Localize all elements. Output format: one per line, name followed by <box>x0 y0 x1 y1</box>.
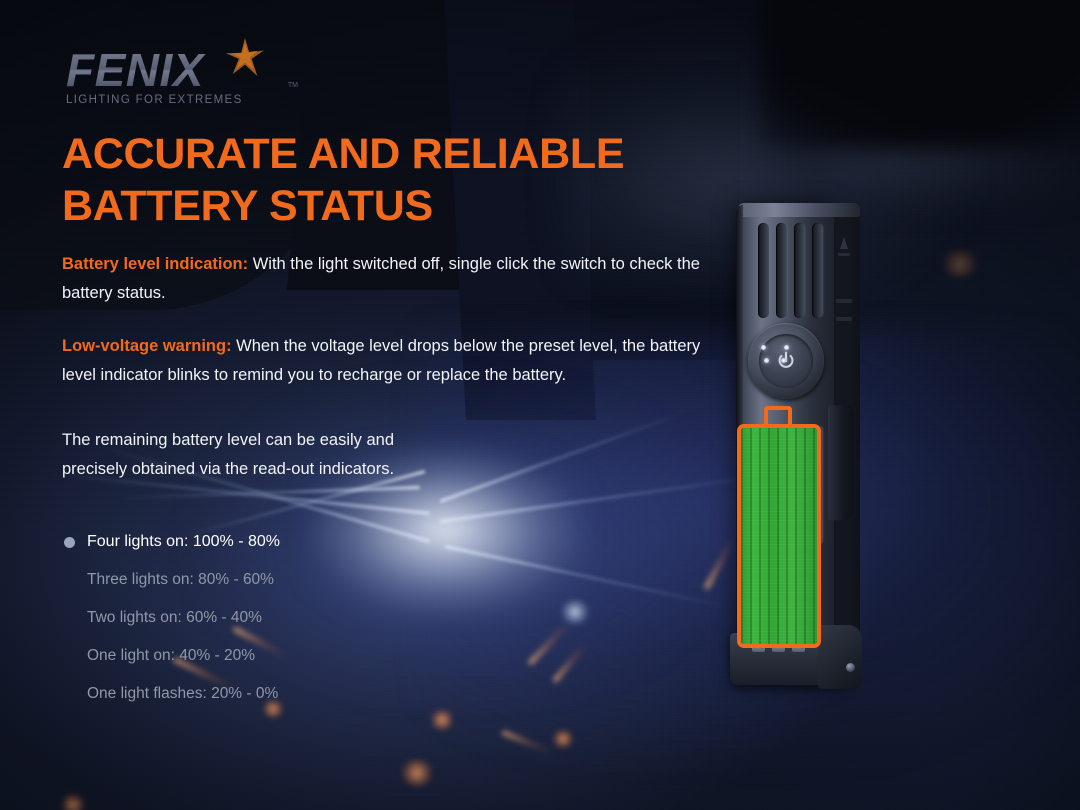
flashlight-groove <box>776 223 787 318</box>
star-icon <box>226 38 264 76</box>
list-item: Four lights on: 100% - 80% <box>62 528 702 557</box>
led-indicator-4 <box>781 358 786 363</box>
spark-dot <box>400 760 434 786</box>
list-item-label: Three lights on: 80% - 60% <box>87 571 274 588</box>
list-item: Two lights on: 60% - 40% <box>62 604 702 633</box>
led-indicator-1 <box>761 345 766 350</box>
list-item: One light flashes: 20% - 0% <box>62 680 702 709</box>
paragraph-battery-level: Battery level indication: With the light… <box>62 250 702 308</box>
paragraph-low-voltage: Low-voltage warning: When the voltage le… <box>62 332 702 390</box>
list-item: One light on: 40% - 20% <box>62 642 702 671</box>
led-indicator-2 <box>784 345 789 350</box>
logo-trademark: TM <box>288 82 298 89</box>
spark-dot <box>60 795 86 810</box>
battery-fill <box>741 428 817 644</box>
page-title: ACCURATE AND RELIABLE BATTERY STATUS <box>62 128 702 232</box>
spark-dot <box>552 730 574 748</box>
flashlight-top-cap <box>738 203 860 217</box>
battery-outline <box>737 424 821 648</box>
flashlight-groove <box>758 223 769 318</box>
flashlight-groove <box>812 223 823 318</box>
led-indicator-3 <box>764 358 769 363</box>
background-dark-corner <box>760 0 1080 150</box>
paragraph-lead: Battery level indication: <box>62 255 248 273</box>
flashlight-groove <box>794 223 805 318</box>
paragraph-note: The remaining battery level can be easil… <box>62 426 422 484</box>
battery-level-icon <box>737 406 821 648</box>
flashlight-engraving <box>833 231 855 371</box>
flashlight-tail-screw <box>846 663 855 672</box>
flashlight-pocket-clip <box>828 404 854 520</box>
bullet-dot-icon <box>64 537 75 548</box>
logo-tagline: LIGHTING FOR EXTREMES <box>66 94 306 106</box>
content-column: ACCURATE AND RELIABLE BATTERY STATUS Bat… <box>62 128 702 718</box>
paragraph-lead: Low-voltage warning: <box>62 337 232 355</box>
power-icon <box>775 350 797 372</box>
logo-wordmark: FENIX <box>66 44 306 96</box>
headline-line-1: ACCURATE AND RELIABLE <box>62 130 624 178</box>
battery-level-list: Four lights on: 100% - 80% Three lights … <box>62 528 702 709</box>
flashlight-tail-clip <box>818 625 862 689</box>
list-item-label: One light flashes: 20% - 0% <box>87 685 278 702</box>
list-item-label: Two lights on: 60% - 40% <box>87 609 262 626</box>
power-button[interactable] <box>748 323 824 399</box>
headline-line-2: BATTERY STATUS <box>62 182 433 230</box>
list-item-label: Four lights on: 100% - 80% <box>87 533 280 550</box>
fenix-logo: FENIX TM LIGHTING FOR EXTREMES <box>66 44 306 112</box>
list-item-label: One light on: 40% - 20% <box>87 647 255 664</box>
spark-dot <box>940 250 980 278</box>
list-item: Three lights on: 80% - 60% <box>62 566 702 595</box>
